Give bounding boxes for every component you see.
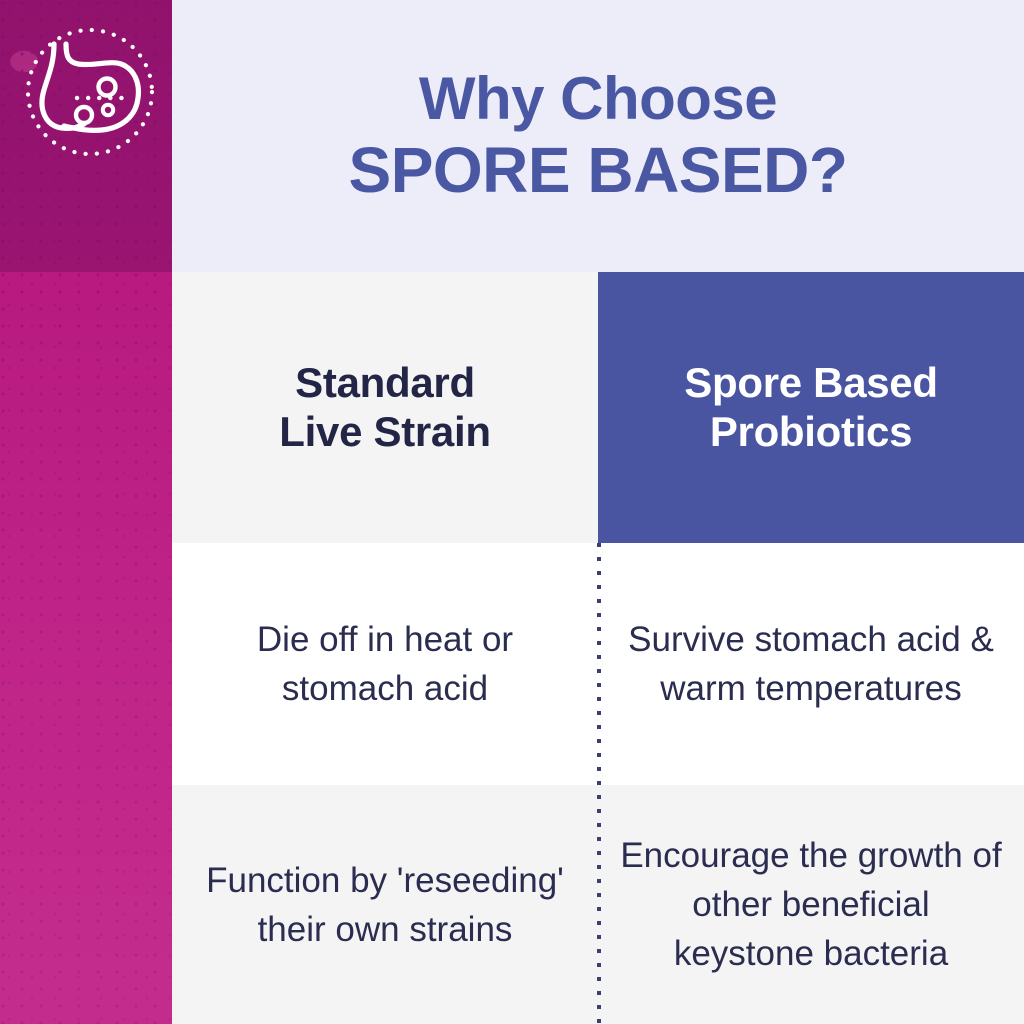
page-title-line-2: SPORE BASED? <box>349 137 848 205</box>
infographic-root: Why Choose SPORE BASED? Standard Live St… <box>0 0 1024 1024</box>
column-header-line-1: Spore Based <box>684 359 937 408</box>
column-header-line-2: Probiotics <box>684 408 937 457</box>
column-header-text: Spore Based Probiotics <box>684 359 937 456</box>
table-cell-spore-function: Encourage the growth of other beneficial… <box>598 785 1024 1024</box>
cell-text: Die off in heat or stomach acid <box>194 615 576 713</box>
column-header-line-1: Standard <box>279 359 490 408</box>
cell-text: Survive stomach acid & warm temperatures <box>620 615 1002 713</box>
cell-tissue-photo <box>0 0 172 1024</box>
header-band: Why Choose SPORE BASED? <box>172 0 1024 272</box>
column-header-standard-live-strain: Standard Live Strain <box>172 272 598 543</box>
page-title-line-1: Why Choose <box>419 67 777 131</box>
table-cell-standard-survival: Die off in heat or stomach acid <box>172 543 598 785</box>
cell-text: Function by 'reseeding' their own strain… <box>194 856 576 954</box>
table-cell-standard-function: Function by 'reseeding' their own strain… <box>172 785 598 1024</box>
column-header-line-2: Live Strain <box>279 408 490 457</box>
table-cell-spore-survival: Survive stomach acid & warm temperatures <box>598 543 1024 785</box>
cell-text: Encourage the growth of other beneficial… <box>620 831 1002 978</box>
comparison-table: Standard Live Strain Spore Based Probiot… <box>172 272 1024 1024</box>
column-header-spore-based-probiotics: Spore Based Probiotics <box>598 272 1024 543</box>
column-divider <box>597 543 601 1024</box>
stomach-icon <box>14 16 166 168</box>
column-header-text: Standard Live Strain <box>279 359 490 456</box>
